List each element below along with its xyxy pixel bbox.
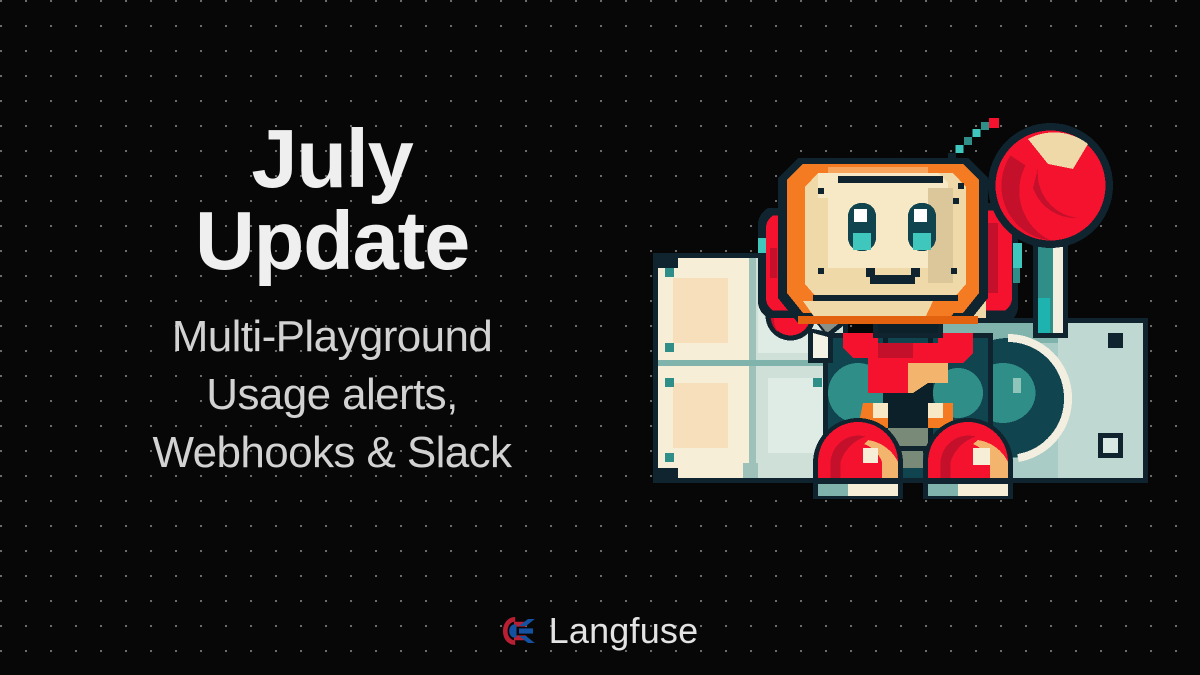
page-subtitle: Multi-Playground Usage alerts, Webhooks … — [153, 308, 512, 482]
robot-illustration — [648, 118, 1148, 523]
langfuse-wordmark: Langfuse — [549, 613, 699, 649]
langfuse-logo-icon — [502, 616, 536, 646]
robot-head — [778, 158, 988, 324]
text-column: July Update Multi-Playground Usage alert… — [0, 0, 640, 600]
brand-lockup: Langfuse — [0, 600, 1200, 662]
banner-root: July Update Multi-Playground Usage alert… — [0, 0, 1200, 675]
page-title: July Update — [195, 118, 469, 282]
